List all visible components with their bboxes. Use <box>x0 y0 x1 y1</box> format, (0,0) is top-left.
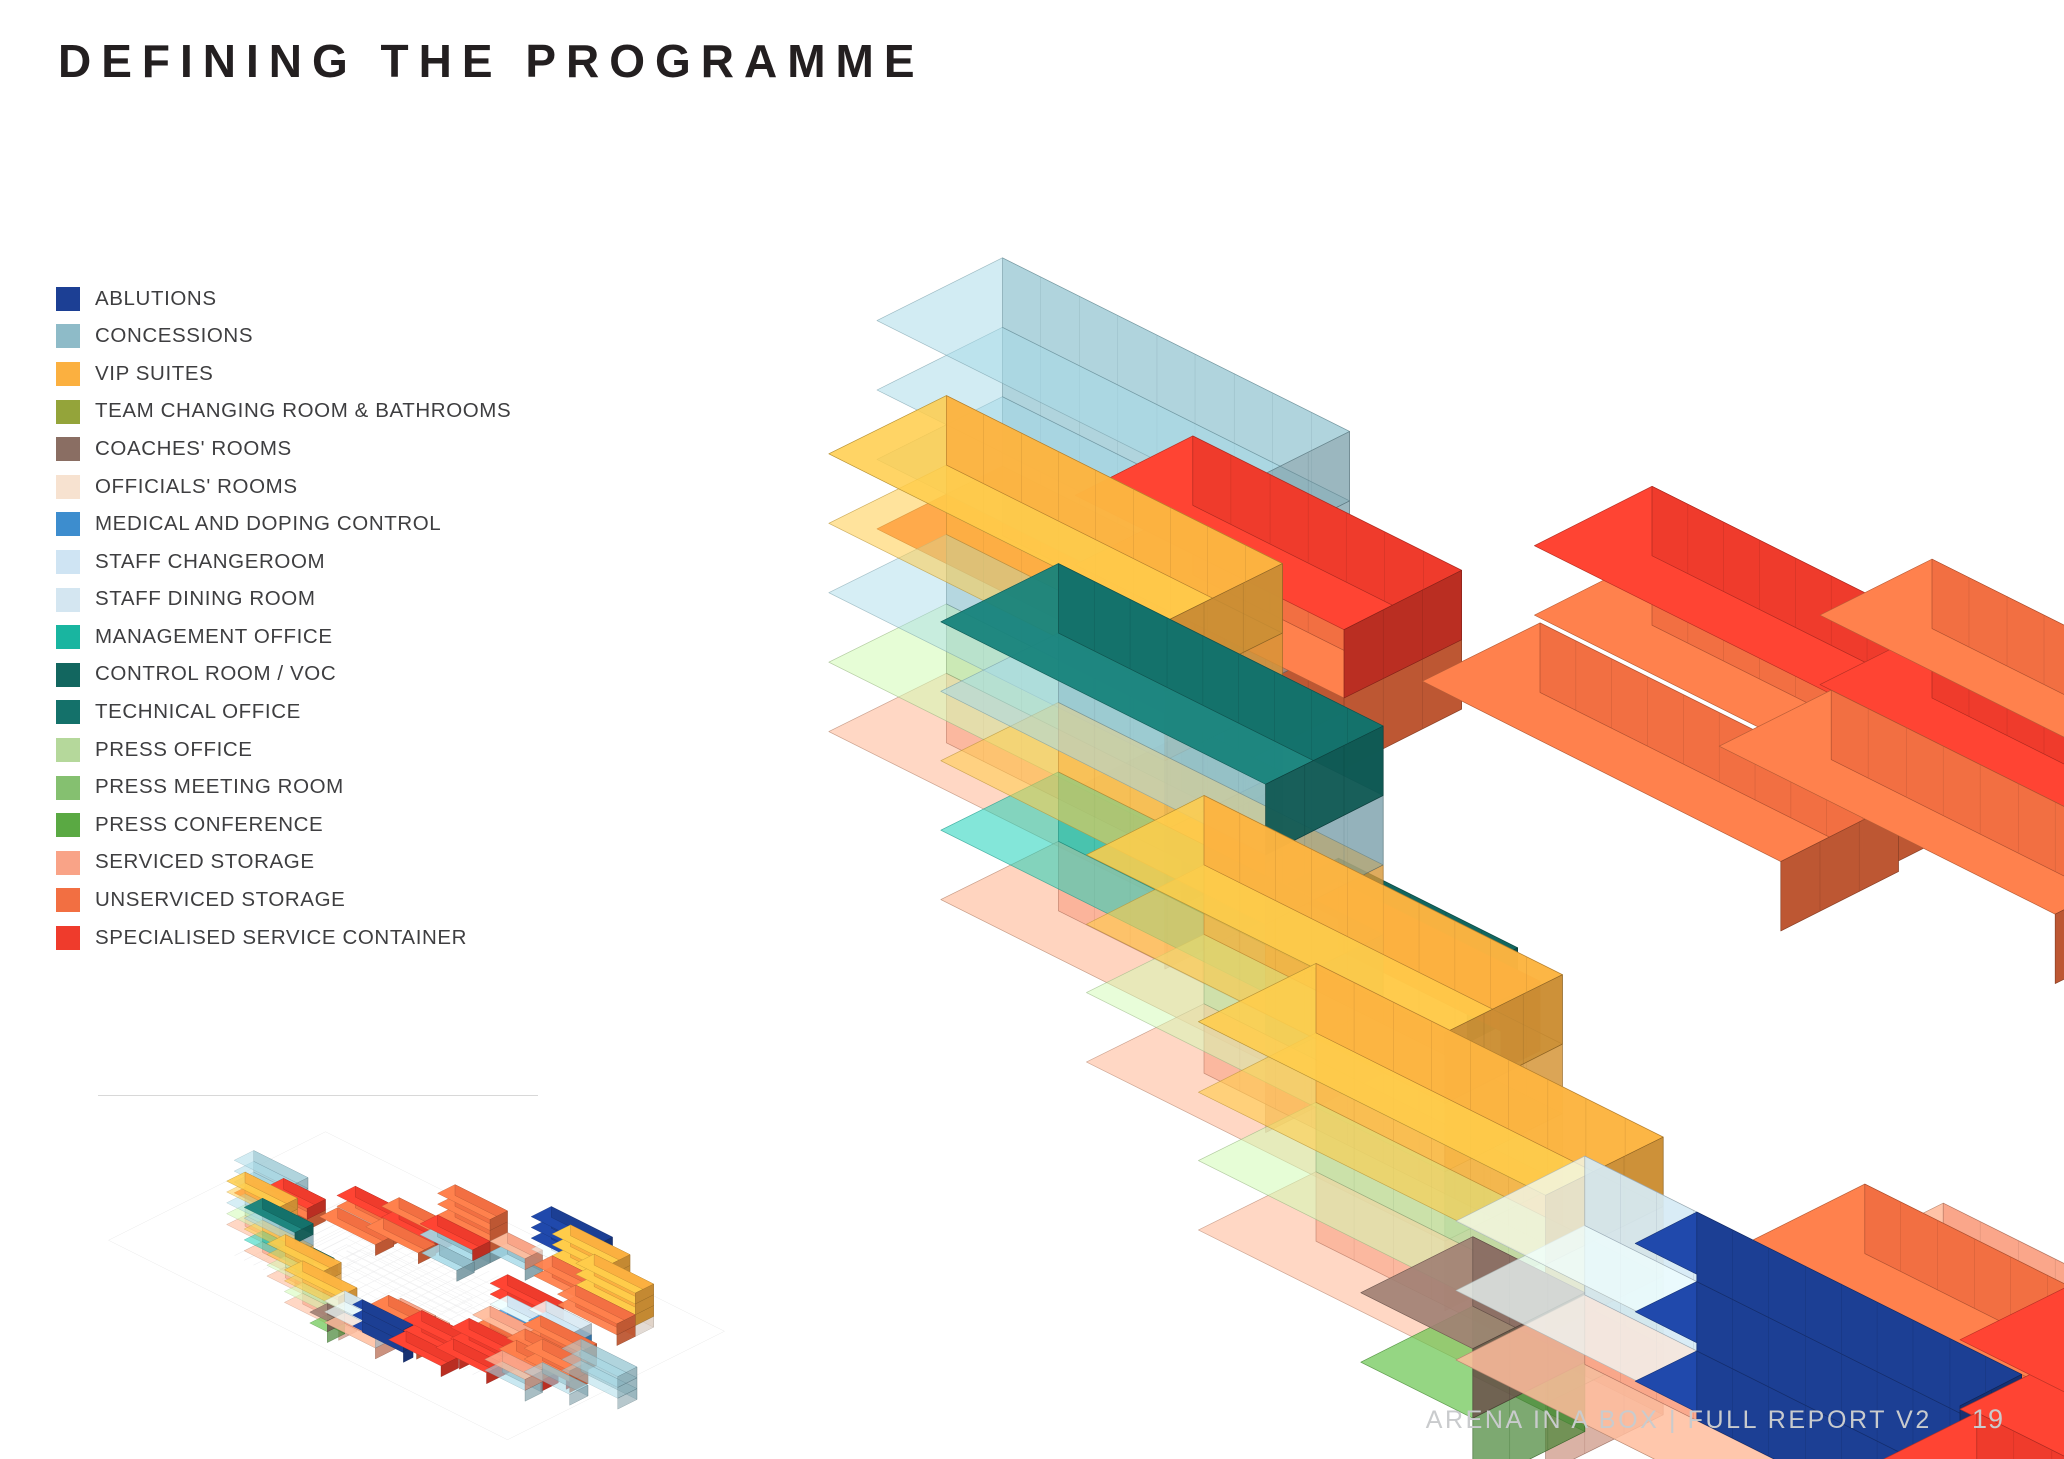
legend-item: UNSERVICED STORAGE <box>56 882 516 920</box>
legend-color-swatch <box>56 475 80 499</box>
legend-color-swatch <box>56 324 80 348</box>
legend-item-label: COACHES' ROOMS <box>95 439 292 460</box>
legend-item-label: UNSERVICED STORAGE <box>95 890 345 911</box>
legend-item: CONTROL ROOM / VOC <box>56 656 516 694</box>
page-number: 19 <box>1972 1404 2004 1435</box>
legend-item: PRESS OFFICE <box>56 731 516 769</box>
legend: ABLUTIONSCONCESSIONSVIP SUITESTEAM CHANG… <box>56 280 516 957</box>
legend-color-swatch <box>56 700 80 724</box>
footer: ARENA IN A BOX | FULL REPORT V2 19 <box>1426 1404 2004 1435</box>
legend-item-label: STAFF CHANGEROOM <box>95 552 325 573</box>
legend-item-label: TEAM CHANGING ROOM & BATHROOMS <box>95 401 511 422</box>
legend-color-swatch <box>56 888 80 912</box>
legend-item: MANAGEMENT OFFICE <box>56 618 516 656</box>
legend-color-swatch <box>56 362 80 386</box>
legend-item-label: MANAGEMENT OFFICE <box>95 627 333 648</box>
legend-item-label: SERVICED STORAGE <box>95 852 315 873</box>
legend-color-swatch <box>56 851 80 875</box>
legend-item: COACHES' ROOMS <box>56 430 516 468</box>
footer-report-label: ARENA IN A BOX | FULL REPORT V2 <box>1426 1406 1932 1435</box>
legend-color-swatch <box>56 588 80 612</box>
legend-item-label: PRESS MEETING ROOM <box>95 777 344 798</box>
legend-color-swatch <box>56 287 80 311</box>
legend-color-swatch <box>56 926 80 950</box>
page-title: DEFINING THE PROGRAMME <box>58 34 925 88</box>
key-plan-thumbnail <box>98 1095 538 1365</box>
legend-color-swatch <box>56 738 80 762</box>
legend-item: SERVICED STORAGE <box>56 844 516 882</box>
legend-item: VIP SUITES <box>56 355 516 393</box>
legend-item: TEAM CHANGING ROOM & BATHROOMS <box>56 393 516 431</box>
legend-item-label: ABLUTIONS <box>95 289 217 310</box>
legend-color-swatch <box>56 400 80 424</box>
legend-color-swatch <box>56 437 80 461</box>
legend-item-label: VIP SUITES <box>95 364 213 385</box>
legend-item-label: MEDICAL AND DOPING CONTROL <box>95 514 441 535</box>
thumbnail-divider <box>98 1095 538 1096</box>
legend-item: STAFF CHANGEROOM <box>56 543 516 581</box>
legend-item: PRESS CONFERENCE <box>56 806 516 844</box>
legend-item: SPECIALISED SERVICE CONTAINER <box>56 919 516 957</box>
legend-item: CONCESSIONS <box>56 318 516 356</box>
legend-color-swatch <box>56 813 80 837</box>
slide-page: DEFINING THE PROGRAMME ABLUTIONSCONCESSI… <box>0 0 2064 1459</box>
legend-color-swatch <box>56 625 80 649</box>
legend-item-label: OFFICIALS' ROOMS <box>95 477 298 498</box>
legend-item-label: PRESS CONFERENCE <box>95 815 323 836</box>
legend-color-swatch <box>56 776 80 800</box>
isometric-container-diagram <box>620 200 2050 1360</box>
legend-color-swatch <box>56 512 80 536</box>
legend-item-label: STAFF DINING ROOM <box>95 589 316 610</box>
legend-item: STAFF DINING ROOM <box>56 581 516 619</box>
legend-item-label: PRESS OFFICE <box>95 740 253 761</box>
legend-item: ABLUTIONS <box>56 280 516 318</box>
legend-item-label: CONCESSIONS <box>95 326 253 347</box>
legend-item: MEDICAL AND DOPING CONTROL <box>56 506 516 544</box>
legend-item-label: SPECIALISED SERVICE CONTAINER <box>95 928 467 949</box>
legend-item: OFFICIALS' ROOMS <box>56 468 516 506</box>
legend-item: TECHNICAL OFFICE <box>56 694 516 732</box>
legend-color-swatch <box>56 663 80 687</box>
legend-item-label: TECHNICAL OFFICE <box>95 702 301 723</box>
legend-item-label: CONTROL ROOM / VOC <box>95 664 336 685</box>
legend-color-swatch <box>56 550 80 574</box>
legend-item: PRESS MEETING ROOM <box>56 769 516 807</box>
